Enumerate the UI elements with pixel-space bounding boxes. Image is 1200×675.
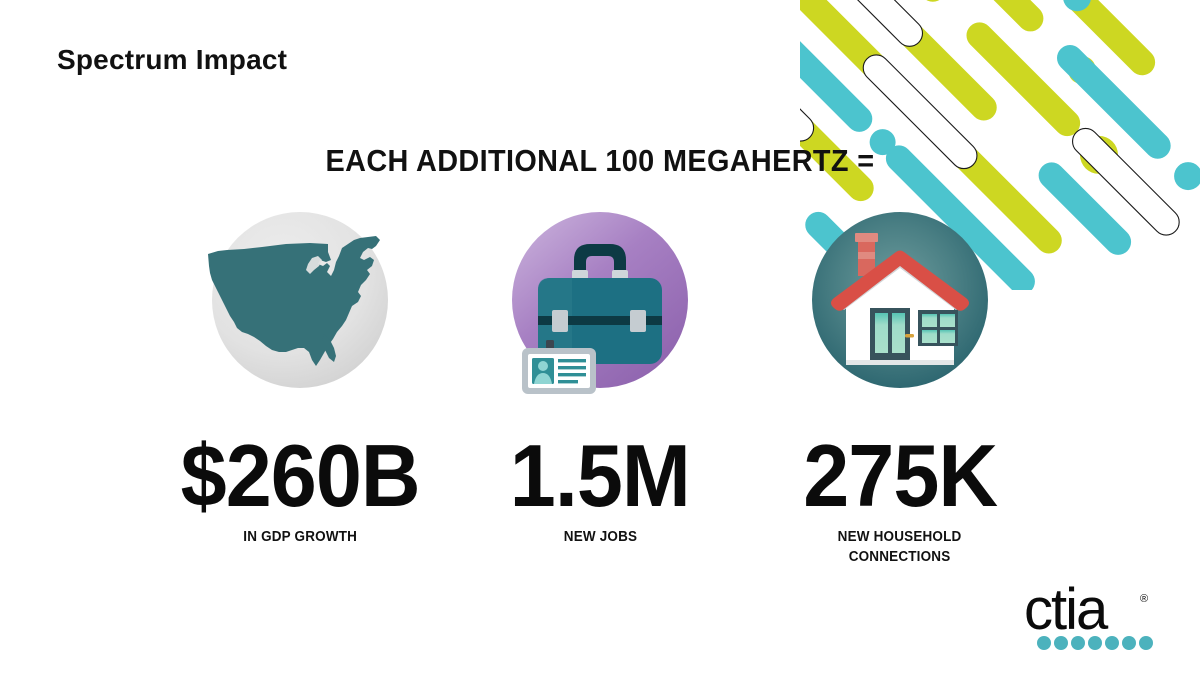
page-title: Spectrum Impact xyxy=(57,44,287,76)
registered-trademark-mark: ® xyxy=(1140,593,1148,605)
stat-block-household-connections: 275K NEW HOUSEHOLD CONNECTIONS xyxy=(750,200,1050,567)
stat-label-new-jobs: NEW JOBS xyxy=(563,528,636,547)
briefcase-icon xyxy=(500,200,700,400)
stat-label-household-connections: NEW HOUSEHOLD CONNECTIONS xyxy=(838,528,962,566)
slide-canvas: Spectrum Impact EACH ADDITIONAL 100 MEGA… xyxy=(0,0,1200,675)
stats-row: $260B IN GDP GROWTH xyxy=(150,200,1070,567)
stat-label-gdp-growth: IN GDP GROWTH xyxy=(243,528,357,547)
us-map-icon xyxy=(200,200,400,400)
stat-value-gdp-growth: $260B xyxy=(180,434,419,518)
stat-block-new-jobs: 1.5M NEW JOBS xyxy=(450,200,750,548)
stat-block-gdp-growth: $260B IN GDP GROWTH xyxy=(150,200,450,548)
ctia-wordmark: ctia xyxy=(1024,580,1109,642)
house-icon xyxy=(800,200,1000,400)
ctia-logo: ctia ® xyxy=(1022,580,1172,655)
headline-text: EACH ADDITIONAL 100 MEGAHERTZ = xyxy=(42,143,1158,179)
stat-value-new-jobs: 1.5M xyxy=(510,434,690,518)
stat-value-household-connections: 275K xyxy=(803,434,997,518)
